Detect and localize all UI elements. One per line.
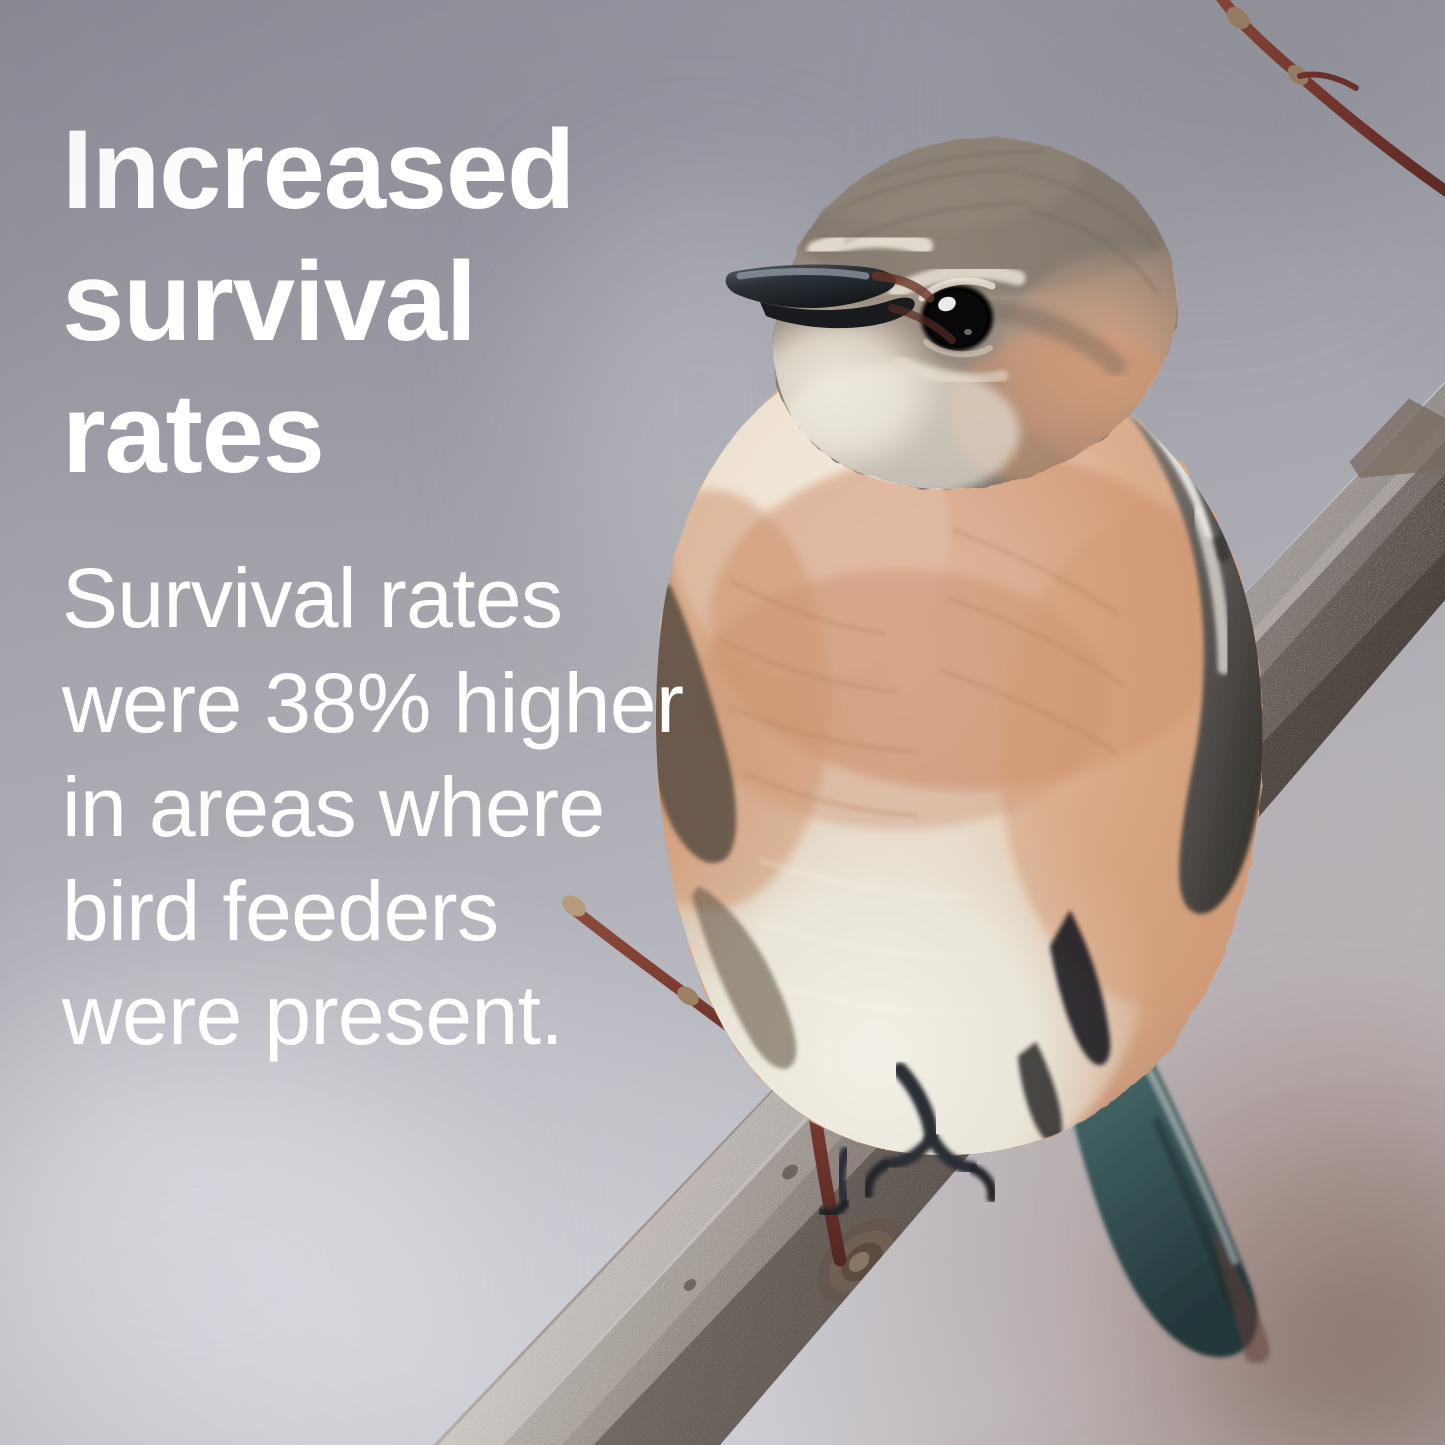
text-overlay: Increased survival rates Survival rates … [62, 104, 702, 1067]
page-title: Increased survival rates [62, 104, 702, 500]
photo-canvas: Increased survival rates Survival rates … [0, 0, 1445, 1445]
body-copy: Survival rates were 38% higher in areas … [62, 500, 702, 1067]
